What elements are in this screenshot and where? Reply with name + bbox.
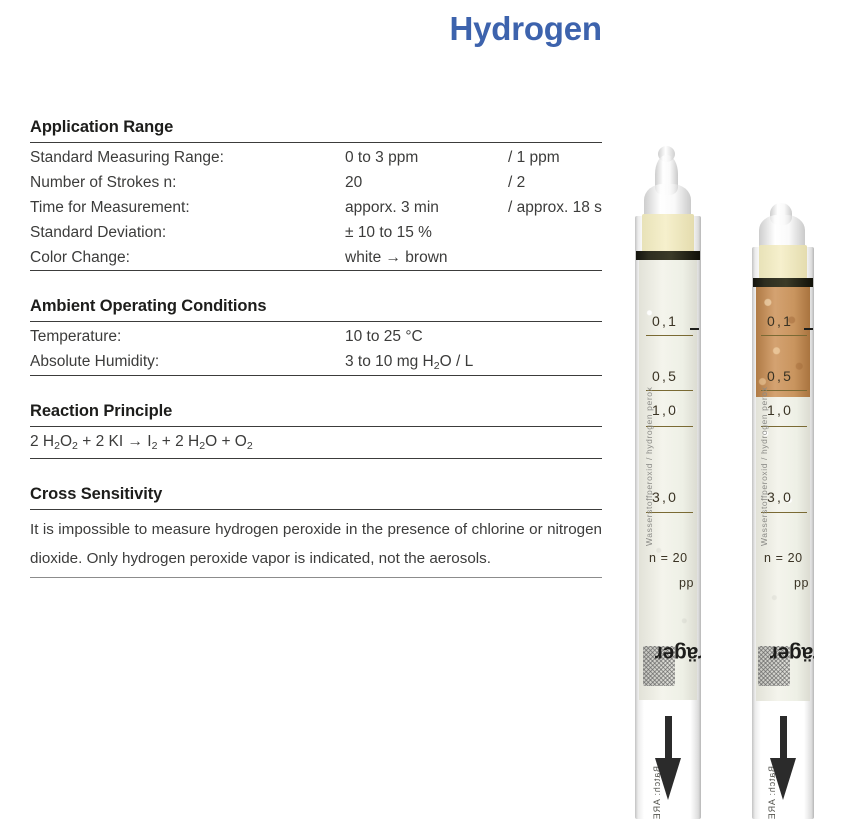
tube-seal-band xyxy=(753,278,813,287)
table-row: Standard Deviation: ± 10 to 15 % xyxy=(30,220,602,245)
tube-side-text: Wasserstoffperoxid / hydrogen perox xyxy=(644,387,654,546)
row-value-primary: ± 10 to 15 % xyxy=(345,220,508,245)
spacer xyxy=(30,376,602,402)
section-heading-application-range: Application Range xyxy=(30,118,602,137)
section-rule xyxy=(30,321,602,322)
row-value-primary: white → brown xyxy=(345,245,508,270)
tube-scale-label-3-0: 3,0 xyxy=(652,489,678,505)
tube-strokes-label: n = 20 xyxy=(764,551,803,565)
row-value-secondary xyxy=(508,349,602,375)
row-label: Color Change: xyxy=(30,245,345,270)
row-label: Temperature: xyxy=(30,324,345,349)
detector-tube-photo: 0,1 0,5 1,0 3,0 n = 20 pp Wasserstoffper… xyxy=(604,0,850,819)
row-label: Absolute Humidity: xyxy=(30,349,345,375)
tube-seal-band xyxy=(636,251,700,260)
section-heading-reaction-principle: Reaction Principle xyxy=(30,402,602,421)
row-value-primary: 10 to 25 °C xyxy=(345,324,508,349)
section-rule xyxy=(30,142,602,143)
tube-scale-label-0-5: 0,5 xyxy=(652,368,678,384)
row-value-secondary xyxy=(508,245,602,270)
ambient-conditions-table: Temperature: 10 to 25 °C Absolute Humidi… xyxy=(30,324,602,375)
brand-logo: Dräger xyxy=(770,641,814,665)
row-value-secondary: / 1 ppm xyxy=(508,145,602,170)
section-ambient-operating-conditions: Ambient Operating Conditions Temperature… xyxy=(30,297,602,376)
section-heading-ambient-operating-conditions: Ambient Operating Conditions xyxy=(30,297,602,316)
tube-scale-line xyxy=(761,335,807,336)
tube-scale-line xyxy=(646,335,693,336)
tube-scale-label-0-1: 0,1 xyxy=(767,313,793,329)
table-row: Color Change: white → brown xyxy=(30,245,602,270)
tube-unit-label: pp xyxy=(794,576,809,590)
table-row: Number of Strokes n: 20 / 2 xyxy=(30,170,602,195)
tube-scale-tick xyxy=(804,328,813,330)
row-label: Standard Measuring Range: xyxy=(30,145,345,170)
unused-detector-tube: 0,1 0,5 1,0 3,0 n = 20 pp Wasserstoffper… xyxy=(635,146,701,819)
tube-scale-tick xyxy=(690,328,699,330)
section-cross-sensitivity: Cross Sensitivity It is impossible to me… xyxy=(30,485,602,578)
row-value-secondary: / 2 xyxy=(508,170,602,195)
row-value-primary: apporx. 3 min xyxy=(345,195,508,220)
tube-scale-label-3-0: 3,0 xyxy=(767,489,793,505)
section-reaction-principle: Reaction Principle 2 H2O2 + 2 KI → I2 + … xyxy=(30,402,602,459)
row-value-secondary: / approx. 18 s xyxy=(508,195,602,220)
table-row: Time for Measurement: apporx. 3 min / ap… xyxy=(30,195,602,220)
section-heading-cross-sensitivity: Cross Sensitivity xyxy=(30,485,602,504)
tube-unit-label: pp xyxy=(679,576,694,590)
brand-logo: Dräger xyxy=(655,641,701,665)
spacer xyxy=(30,459,602,485)
row-value-humidity: 3 to 10 mg H2O / L xyxy=(345,349,508,375)
row-value-secondary xyxy=(508,324,602,349)
tube-scale-label-0-5: 0,5 xyxy=(767,368,793,384)
cross-sensitivity-text: It is impossible to measure hydrogen per… xyxy=(30,510,602,577)
tube-side-text: Wasserstoffperoxid / hydrogen perox xyxy=(759,387,769,546)
row-value-primary: 0 to 3 ppm xyxy=(345,145,508,170)
tube-prelayer-plug xyxy=(642,214,694,252)
document-body: Application Range Standard Measuring Ran… xyxy=(30,118,602,578)
application-range-table: Standard Measuring Range: 0 to 3 ppm / 1… xyxy=(30,145,602,270)
tube-scale-label-1-0: 1,0 xyxy=(652,402,678,418)
flow-arrow-head xyxy=(770,758,796,800)
flow-arrow-shaft xyxy=(665,716,672,764)
row-label: Time for Measurement: xyxy=(30,195,345,220)
section-application-range: Application Range Standard Measuring Ran… xyxy=(30,118,602,271)
row-label: Number of Strokes n: xyxy=(30,170,345,195)
section-rule xyxy=(30,577,602,578)
flow-arrow-head xyxy=(655,758,681,800)
flow-arrow-shaft xyxy=(780,716,787,764)
reaction-equation: 2 H2O2 + 2 KI → I2 + 2 H2O + O2 xyxy=(30,427,602,458)
table-row: Standard Measuring Range: 0 to 3 ppm / 1… xyxy=(30,145,602,170)
row-value-secondary xyxy=(508,220,602,245)
tube-strokes-label: n = 20 xyxy=(649,551,688,565)
tube-scale-label-1-0: 1,0 xyxy=(767,402,793,418)
spacer xyxy=(30,271,602,297)
row-value-primary: 20 xyxy=(345,170,508,195)
table-row: Temperature: 10 to 25 °C xyxy=(30,324,602,349)
row-label: Standard Deviation: xyxy=(30,220,345,245)
tube-scale-label-0-1: 0,1 xyxy=(652,313,678,329)
tube-prelayer-plug xyxy=(759,245,807,279)
table-row: Absolute Humidity: 3 to 10 mg H2O / L xyxy=(30,349,602,375)
used-detector-tube: 0,1 0,5 1,0 3,0 n = 20 pp Wasserstoffper… xyxy=(752,203,814,819)
